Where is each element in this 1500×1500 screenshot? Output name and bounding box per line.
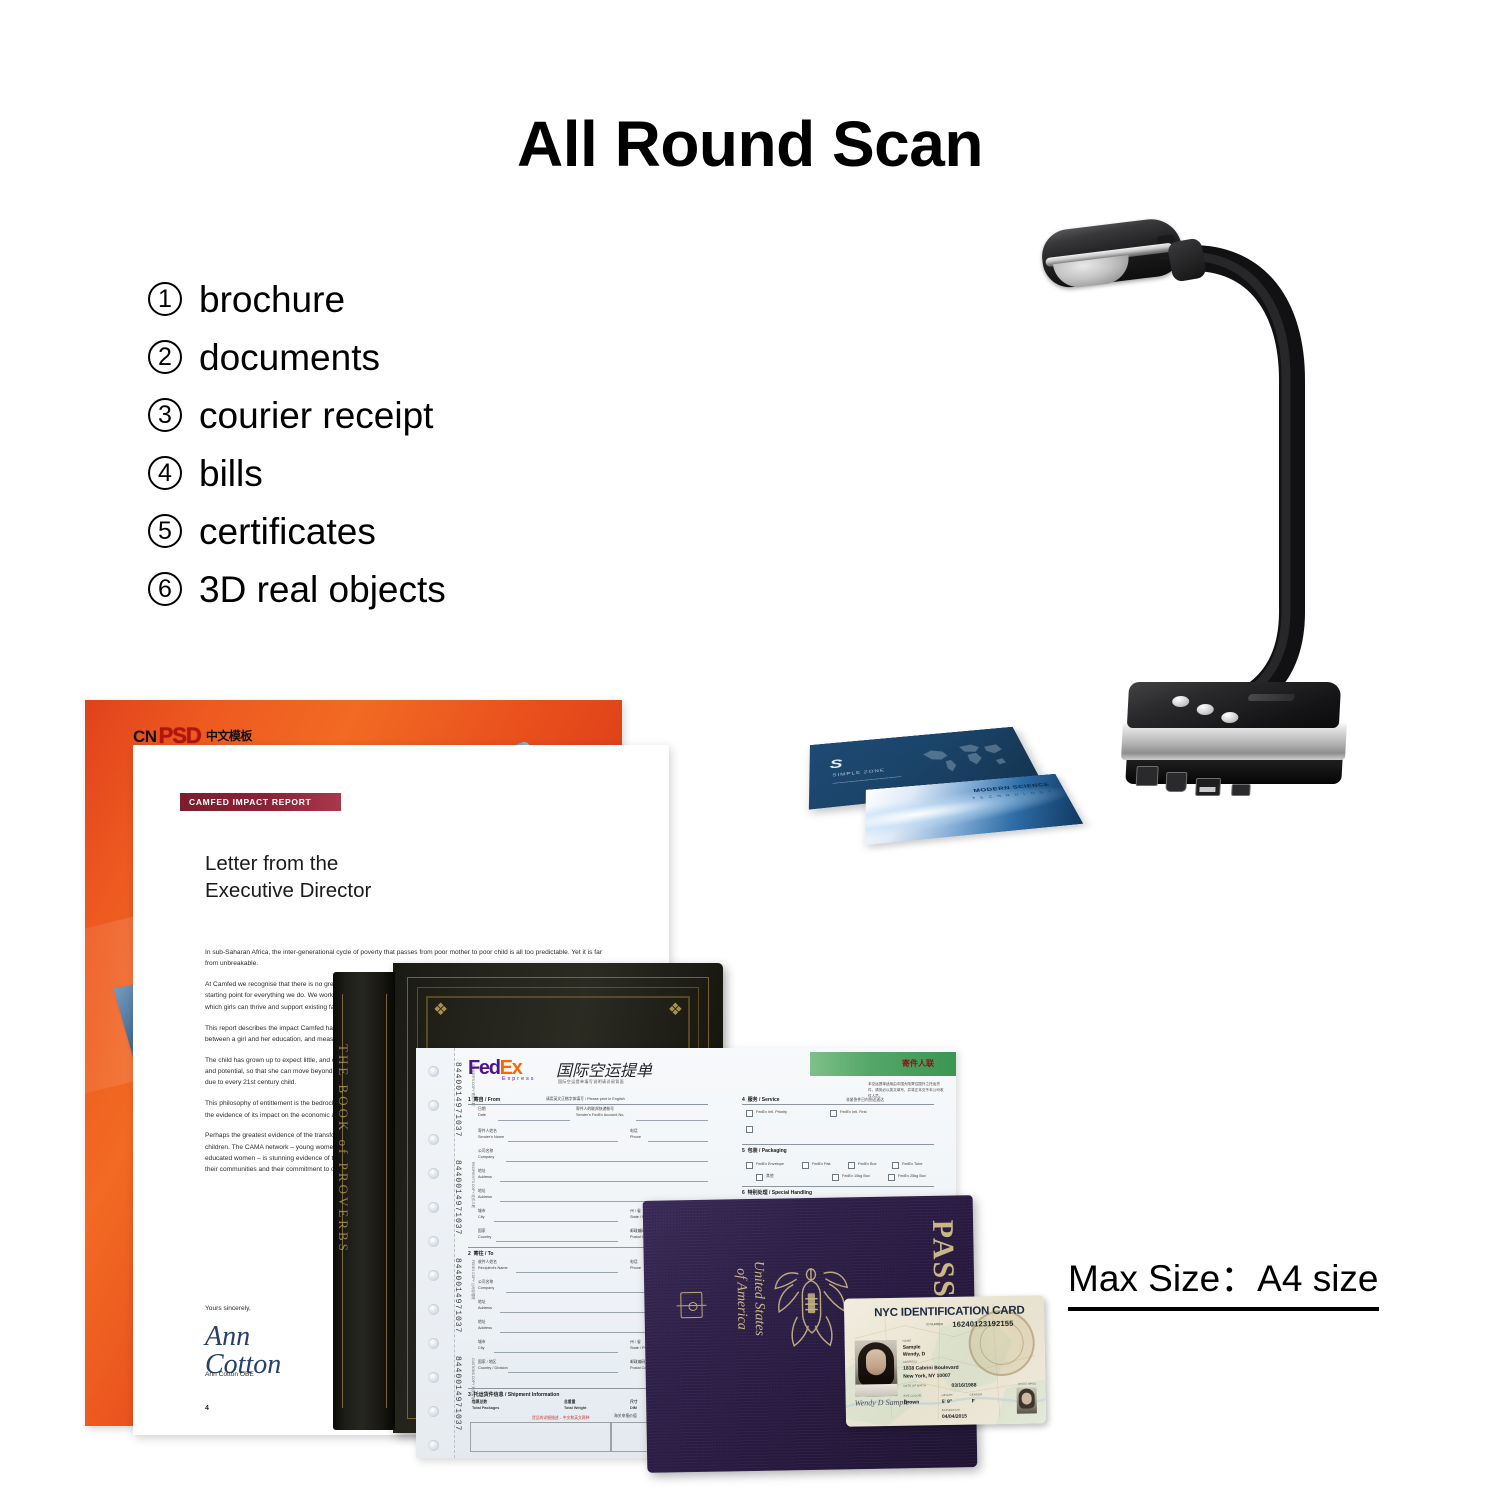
height-value: 5' 9" xyxy=(942,1399,953,1405)
list-item: 6 3D real objects xyxy=(148,560,668,618)
field-label: Address xyxy=(478,1175,492,1180)
id-number-value: 16240123192155 xyxy=(952,1319,1013,1329)
tracking-copy-label: FEDEX COPY 公司存根联 xyxy=(471,1260,476,1300)
photo-face xyxy=(866,1349,886,1375)
field-label: Country / Division xyxy=(478,1366,508,1371)
field-label: 日期 xyxy=(478,1107,486,1112)
section-label: 包装 / Packaging xyxy=(748,1148,787,1154)
report-page-number: 4 xyxy=(205,1405,209,1412)
list-number-badge: 2 xyxy=(148,340,182,374)
field-label: Phone xyxy=(630,1135,641,1140)
perforation-hole xyxy=(428,1168,439,1179)
list-number-badge: 4 xyxy=(148,456,182,490)
field-label: Recipient's Name xyxy=(478,1266,508,1271)
packaging-checkbox[interactable] xyxy=(746,1162,753,1169)
field-label: Company xyxy=(478,1155,494,1160)
address-label: ADDRESS xyxy=(903,1360,917,1363)
service-checkbox[interactable] xyxy=(746,1126,753,1133)
field-label: 国家 / 地区 xyxy=(478,1360,496,1365)
perforation-hole xyxy=(428,1338,439,1349)
report-heading-line2: Executive Director xyxy=(205,877,371,904)
section-rule xyxy=(742,1144,934,1145)
list-item-label: brochure xyxy=(199,281,345,318)
gooseneck-arm-icon xyxy=(1020,212,1370,732)
waybill-notice: 本空运提单适用由中国大陆寄往国外之托运货件，请务必以英文填写，并将正本交予本公司… xyxy=(868,1082,946,1099)
passport-country-line1: United States xyxy=(751,1261,767,1336)
brochure-logo-zh: 中文模板 xyxy=(206,730,252,742)
section-label: 托运货件信息 / Shipment Information xyxy=(474,1392,560,1398)
sex-label: GENDER xyxy=(970,1393,983,1396)
camera-base xyxy=(1120,682,1348,792)
perforation-hole xyxy=(428,1406,439,1417)
height-label: HEIGHT xyxy=(942,1394,953,1397)
field-label: Sender's Name xyxy=(478,1135,504,1140)
card-logo-rule xyxy=(833,776,902,784)
packaging-checkbox[interactable] xyxy=(892,1162,899,1169)
packaging-option-label: 其他 xyxy=(766,1174,774,1179)
section-number: 1 xyxy=(468,1097,471,1103)
field-label: Sender's FedEx Account No. xyxy=(576,1113,624,1118)
field-label: 电话 xyxy=(630,1129,638,1134)
waybill-section-3-title: 3 托运货件信息 / Shipment Information xyxy=(468,1391,559,1398)
input-line[interactable] xyxy=(648,1141,708,1142)
section-number: 2 xyxy=(468,1251,471,1257)
field-label: City xyxy=(478,1215,485,1220)
field-label: City xyxy=(478,1346,485,1351)
input-line[interactable] xyxy=(508,1372,618,1373)
waybill-perforation-strip xyxy=(416,1048,455,1458)
signature-mark: Ann Cotton xyxy=(205,1323,325,1357)
card-logo-initial: S xyxy=(830,758,843,771)
field-label: 寄件人姓名 xyxy=(478,1129,497,1134)
field-label: 公司名称 xyxy=(478,1149,493,1154)
dob-value: 03/16/1988 xyxy=(951,1382,976,1388)
name-value-1: Sample xyxy=(903,1344,921,1350)
ghost-photo xyxy=(1016,1387,1036,1413)
power-port[interactable] xyxy=(1231,784,1251,796)
capture-button[interactable] xyxy=(1172,696,1190,707)
packaging-checkbox[interactable] xyxy=(832,1174,839,1181)
waybill-title-zh: 国际空运提单 xyxy=(556,1057,652,1081)
vga-port[interactable] xyxy=(1136,766,1159,786)
waybill-section-1-note: 请用英文正楷字体填写 / Please print in English xyxy=(546,1097,625,1102)
service-checkbox[interactable] xyxy=(830,1110,837,1117)
input-line[interactable] xyxy=(494,1221,618,1222)
fedex-logo-sub: Express xyxy=(502,1076,535,1082)
waybill-section-6-title: 6 特别处理 / Special Handling xyxy=(742,1189,812,1196)
waybill-copy-band: 寄件人联 xyxy=(810,1052,956,1076)
nyc-identification-card: NYC IDENTIFICATION CARD ID NUMBER 162401… xyxy=(844,1295,1046,1426)
book-corner-flourish-icon: ❖ xyxy=(663,1001,683,1019)
field-label: 城市 xyxy=(478,1209,486,1214)
field-label: 邮政编码 xyxy=(630,1360,645,1365)
service-checkbox[interactable] xyxy=(746,1110,753,1117)
field-label: 州 / 省 xyxy=(630,1209,641,1214)
input-line[interactable] xyxy=(516,1272,618,1273)
list-number-badge: 6 xyxy=(148,572,182,606)
brochure-logo-cn: CN xyxy=(133,728,157,745)
input-line[interactable] xyxy=(506,1161,708,1162)
commodity-label: 货品的详细描述 ‒ 中文和英文两种 xyxy=(532,1416,589,1421)
field-label: 州 / 省 xyxy=(630,1340,641,1345)
perforation-hole xyxy=(428,1440,439,1451)
tracking-number: 8440014971037 xyxy=(453,1356,462,1431)
address-value-1: 1838 Cabrini Boulevard xyxy=(903,1365,959,1372)
photo-shirt xyxy=(855,1384,897,1397)
field-label: 公司名称 xyxy=(478,1280,493,1285)
list-item: 5 certificates xyxy=(148,502,668,560)
field-label: Address xyxy=(478,1326,492,1331)
packaging-option-label: FedEx Pak xyxy=(812,1162,831,1167)
field-label: Address xyxy=(478,1306,492,1311)
field-label: 包裹总数 xyxy=(472,1400,487,1405)
base-top-panel xyxy=(1127,682,1341,728)
list-item: 1 brochure xyxy=(148,270,668,328)
name-label: NAME xyxy=(903,1340,912,1343)
field-label: Date xyxy=(478,1113,486,1118)
tracking-number: 8440014971037 xyxy=(453,1062,462,1137)
business-cards-group: S SIMPLE ZONE MODERN SCIENCE T E C H N O… xyxy=(805,700,1105,860)
usb-b-port[interactable] xyxy=(1165,772,1187,792)
section-rule xyxy=(742,1104,934,1105)
book-spine: THE BOOK of PROVERBS xyxy=(333,972,395,1430)
field-label: 海关申报价值 xyxy=(614,1414,637,1419)
signature-name: Ann Cotton OBE xyxy=(205,1371,254,1378)
section-label: 服务 / Service xyxy=(748,1097,780,1103)
input-line[interactable] xyxy=(494,1352,618,1353)
perforation-hole xyxy=(428,1134,439,1145)
waybill-section-5-title: 5 包装 / Packaging xyxy=(742,1147,787,1154)
field-label: Company xyxy=(478,1286,494,1291)
field-label: Total Packages xyxy=(472,1406,499,1411)
expiration-label: EXPIRATION xyxy=(942,1409,960,1412)
list-item-label: documents xyxy=(199,339,380,376)
sex-value: F xyxy=(972,1398,975,1404)
report-signoff: Yours sincerely, xyxy=(205,1305,251,1312)
report-tag: CAMFED IMPACT REPORT xyxy=(180,793,341,811)
packaging-option-label: FedEx Tube xyxy=(902,1162,922,1167)
tracking-number: 8440014971037 xyxy=(453,1258,462,1333)
section-number: 5 xyxy=(742,1148,745,1154)
mode-button[interactable] xyxy=(1196,704,1214,715)
field-label: 地址 xyxy=(478,1169,486,1174)
id-photo xyxy=(855,1340,898,1397)
section-number: 4 xyxy=(742,1097,745,1103)
list-item-label: courier receipt xyxy=(199,397,433,434)
ghost-image-label: GHOST IMAGE xyxy=(1018,1382,1036,1385)
packaging-checkbox[interactable] xyxy=(756,1174,763,1181)
ghost-face xyxy=(1022,1392,1032,1404)
eye-label: EYE COLOR xyxy=(904,1394,922,1397)
name-value-2: Wendy, D xyxy=(903,1351,925,1357)
waybill-copy-label: 寄件人联 xyxy=(902,1058,934,1069)
expiration-value: 04/04/2015 xyxy=(942,1414,967,1420)
book-corner-flourish-icon: ❖ xyxy=(433,1001,453,1019)
list-item-label: certificates xyxy=(199,513,376,550)
tracking-number: 8440014971037 xyxy=(453,1160,462,1235)
packaging-checkbox[interactable] xyxy=(802,1162,809,1169)
packaging-option-label: FedEx Envelope xyxy=(756,1162,784,1167)
field-label: 国家 xyxy=(478,1229,486,1234)
address-value-2: New York, NY 10007 xyxy=(903,1373,950,1380)
field-label: 地址 xyxy=(478,1300,486,1305)
input-line[interactable] xyxy=(636,1120,708,1121)
eye-value: Brown xyxy=(904,1399,920,1405)
packaging-option-label: FedEx Box xyxy=(858,1162,877,1167)
list-item-label: 3D real objects xyxy=(199,571,446,608)
packaging-checkbox[interactable] xyxy=(888,1174,895,1181)
service-option-label: FedEx Intl. First xyxy=(840,1110,867,1115)
commodity-cell[interactable] xyxy=(470,1422,612,1452)
base-label-strip xyxy=(1247,694,1295,701)
field-label: 地址 xyxy=(478,1189,486,1194)
waybill-subtitle-zh: 国际空运提单填写说明请详阅背面 xyxy=(558,1079,624,1085)
biometric-chip-icon xyxy=(680,1292,702,1318)
service-note: 非紧急件日内到达送达 xyxy=(846,1098,884,1103)
input-line[interactable] xyxy=(500,1181,708,1182)
input-line[interactable] xyxy=(496,1241,618,1242)
passport-country-line2: of America xyxy=(733,1268,749,1330)
perforation-hole xyxy=(428,1202,439,1213)
section-number: 3 xyxy=(468,1392,471,1398)
field-label: Total Weight xyxy=(564,1406,586,1411)
waybill-section-1-title: 1 寄自 / From xyxy=(468,1096,500,1103)
section-label: 寄往 / To xyxy=(474,1251,494,1257)
field-label: Country xyxy=(478,1235,491,1240)
section-label: 特别处理 / Special Handling xyxy=(748,1190,812,1196)
perforation-hole xyxy=(428,1270,439,1281)
usb-a-port[interactable] xyxy=(1195,778,1221,796)
packaging-option-label: FedEx 25kg Box xyxy=(898,1174,926,1179)
waybill-section-4-title: 4 服务 / Service xyxy=(742,1096,780,1103)
field-label: 电话 xyxy=(630,1260,638,1265)
list-item: 2 documents xyxy=(148,328,668,386)
waybill-section-2-title: 2 寄往 / To xyxy=(468,1250,493,1257)
input-line[interactable] xyxy=(508,1141,618,1142)
spine-gilt-line xyxy=(386,994,387,1408)
list-item-label: bills xyxy=(199,455,263,492)
report-heading-line1: Letter from the xyxy=(205,850,371,877)
brochure-logo-psd: PSD xyxy=(159,725,201,747)
field-label: Phone xyxy=(630,1266,641,1271)
feature-list: 1 brochure 2 documents 3 courier receipt… xyxy=(148,270,668,618)
fedex-logo-fed: Fed xyxy=(468,1057,500,1079)
book-spine-title: THE BOOK of PROVERBS xyxy=(335,1044,351,1334)
brochure-logo: CN PSD 中文模板 xyxy=(133,725,252,747)
tracking-copy-label: RECIPIENT'S COPY 收件人联 xyxy=(471,1162,476,1208)
section-number: 6 xyxy=(742,1190,745,1196)
id-number-label: ID NUMBER xyxy=(926,1322,943,1326)
field-label: 城市 xyxy=(478,1340,486,1345)
camera-head-joint xyxy=(1167,237,1207,282)
list-item: 4 bills xyxy=(148,444,668,502)
dob-label: DATE OF BIRTH xyxy=(903,1384,926,1387)
id-signature: Wendy D Sample xyxy=(855,1398,910,1408)
page-title: All Round Scan xyxy=(0,112,1500,176)
service-option-label: FedEx Intl. Priority xyxy=(756,1110,787,1115)
field-label: DIM xyxy=(630,1406,637,1411)
section-rule xyxy=(468,1104,708,1105)
world-map-icon xyxy=(908,737,1022,780)
field-label: 寄件人的联邦快递帐号 xyxy=(576,1107,614,1112)
section-label: 寄自 / From xyxy=(474,1097,501,1103)
perforation-hole xyxy=(428,1304,439,1315)
list-number-badge: 5 xyxy=(148,514,182,548)
field-label: 地址 xyxy=(478,1320,486,1325)
field-label: 收件人姓名 xyxy=(478,1260,497,1265)
field-label: Address xyxy=(478,1195,492,1200)
fedex-logo: FedEx xyxy=(468,1058,522,1078)
packaging-checkbox[interactable] xyxy=(848,1162,855,1169)
perforation-hole xyxy=(428,1372,439,1383)
packaging-option-label: FedEx 10kg Box xyxy=(842,1174,870,1179)
perforation-hole xyxy=(428,1066,439,1077)
list-number-badge: 3 xyxy=(148,398,182,432)
perforation-hole xyxy=(428,1100,439,1111)
section-rule xyxy=(742,1186,934,1187)
passport-country: United Statesof America xyxy=(732,1261,768,1337)
list-item: 3 courier receipt xyxy=(148,386,668,444)
field-label: 总重量 xyxy=(564,1400,575,1405)
field-label: 尺寸 xyxy=(630,1400,638,1405)
list-number-badge: 1 xyxy=(148,282,182,316)
max-size-note: Max Size：A4 size xyxy=(1068,1248,1379,1311)
power-button[interactable] xyxy=(1221,712,1239,723)
perforation-hole xyxy=(428,1236,439,1247)
input-line[interactable] xyxy=(498,1120,570,1121)
report-heading: Letter from the Executive Director xyxy=(205,850,371,904)
